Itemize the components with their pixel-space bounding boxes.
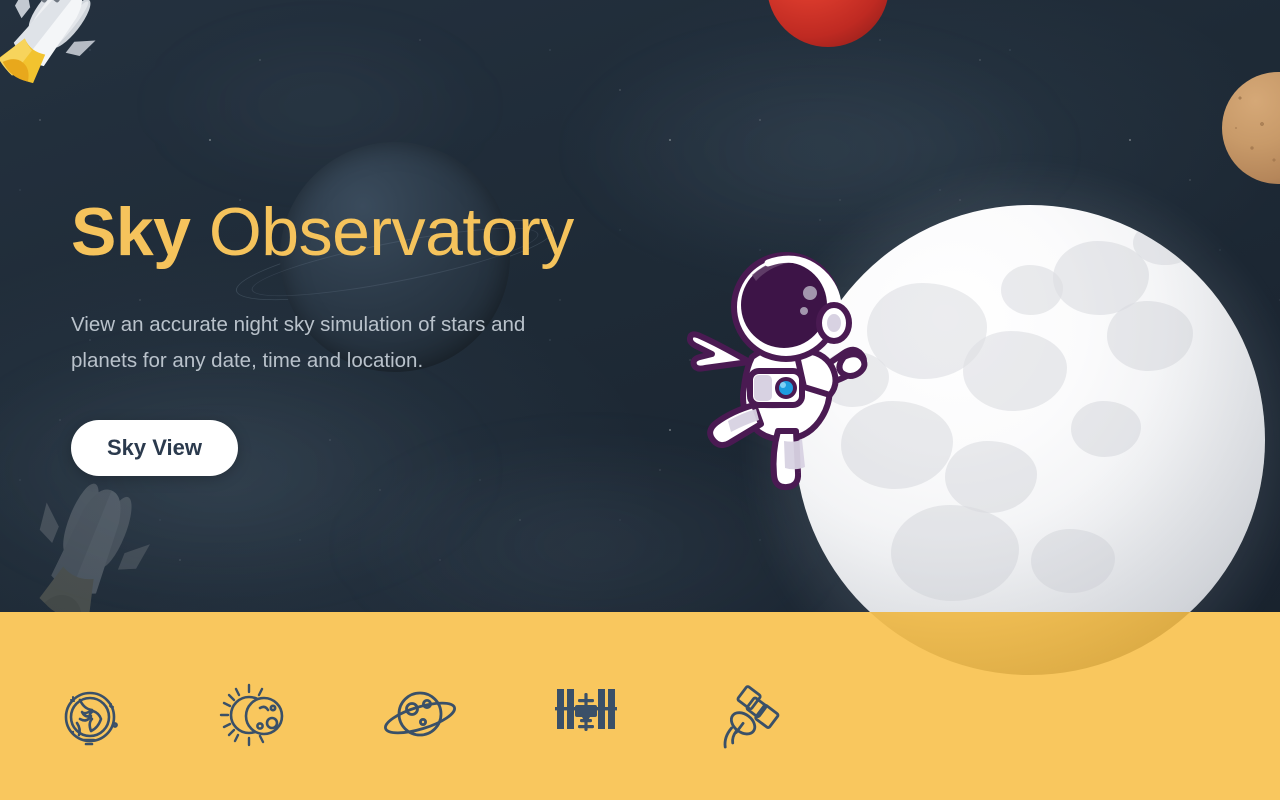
satellite-icon (714, 677, 790, 753)
saturn-icon (380, 678, 460, 752)
earth-icon (53, 678, 127, 752)
icon-button-satellite[interactable] (706, 672, 798, 758)
solar-eclipse-icon (216, 678, 294, 752)
rocket-shuttle-icon (0, 0, 132, 114)
icon-button-eclipse[interactable] (209, 672, 301, 758)
icon-button-space-station[interactable] (540, 672, 632, 758)
icon-button-saturn[interactable] (374, 672, 466, 758)
bottom-feature-band (0, 612, 1280, 800)
page-title: Sky Observatory (71, 196, 711, 269)
space-station-icon (549, 679, 623, 751)
page-title-bold: Sky (71, 194, 191, 270)
hero-page: Sky Observatory View an accurate night s… (0, 0, 1280, 800)
cratered-moon (1222, 72, 1280, 184)
icon-button-earth[interactable] (44, 672, 136, 758)
sky-view-button[interactable]: Sky View (71, 420, 238, 476)
hero-text-block: Sky Observatory View an accurate night s… (71, 196, 711, 476)
moon-cast-shadow (795, 612, 1265, 675)
red-planet (767, 0, 889, 47)
page-subtitle: View an accurate night sky simulation of… (71, 307, 591, 378)
page-title-light: Observatory (209, 194, 574, 270)
